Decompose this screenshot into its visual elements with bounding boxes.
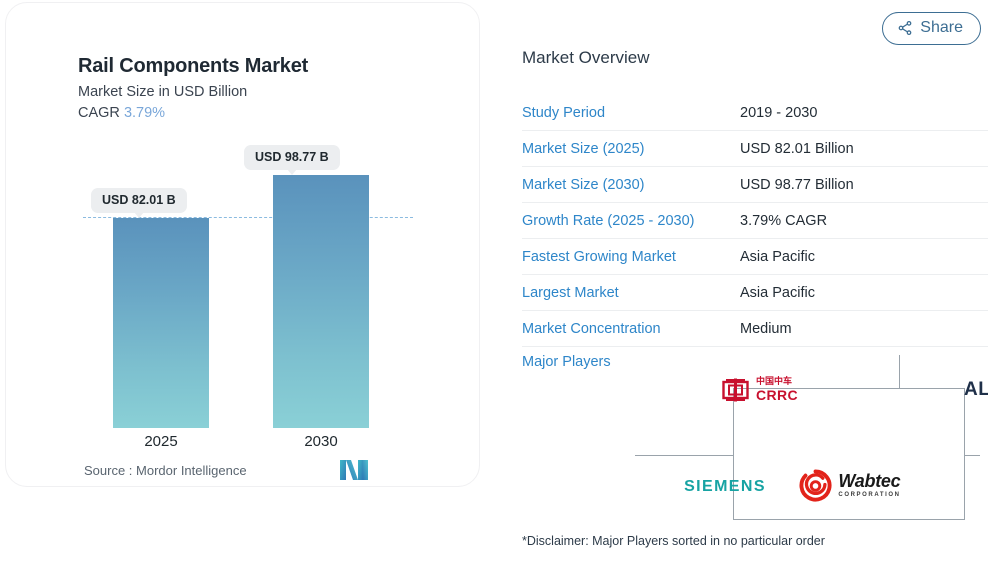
row-key: Market Size (2025) bbox=[522, 141, 740, 157]
wabtec-name: Wabtec bbox=[838, 472, 900, 490]
player-logo-wabtec: Wabtec CORPORATION bbox=[765, 455, 935, 515]
wabtec-swirl-icon bbox=[799, 469, 832, 502]
chart-subtitle: Market Size in USD Billion bbox=[78, 84, 247, 100]
alstom-text-part1: ALST bbox=[964, 379, 988, 401]
alstom-wordmark: ALST M bbox=[964, 379, 988, 401]
row-key: Market Size (2030) bbox=[522, 177, 740, 193]
player-logo-crrc: 中国中车 CRRC bbox=[645, 367, 875, 412]
table-row: Study Period 2019 - 2030 bbox=[522, 95, 988, 131]
row-value: 2019 - 2030 bbox=[740, 105, 817, 121]
chart-title: Rail Components Market bbox=[78, 55, 308, 78]
row-key: Fastest Growing Market bbox=[522, 249, 740, 265]
disclaimer-text: *Disclaimer: Major Players sorted in no … bbox=[522, 534, 825, 548]
cagr-label: CAGR bbox=[78, 105, 120, 121]
row-value: 3.79% CAGR bbox=[740, 213, 827, 229]
chart-card: Rail Components Market Market Size in US… bbox=[5, 2, 480, 487]
player-logo-alstom: ALST M bbox=[920, 367, 988, 412]
cagr-value: 3.79% bbox=[124, 105, 165, 121]
mordor-intelligence-logo bbox=[339, 459, 369, 481]
row-value: USD 98.77 Billion bbox=[740, 177, 854, 193]
market-overview-table: Study Period 2019 - 2030 Market Size (20… bbox=[522, 95, 988, 377]
table-row: Growth Rate (2025 - 2030) 3.79% CAGR bbox=[522, 203, 988, 239]
row-key: Study Period bbox=[522, 105, 740, 121]
crrc-emblem-icon bbox=[722, 378, 749, 402]
page-root: Rail Components Market Market Size in US… bbox=[0, 0, 988, 565]
share-nodes-icon bbox=[897, 20, 913, 36]
share-button-label: Share bbox=[920, 19, 963, 37]
row-value: USD 82.01 Billion bbox=[740, 141, 854, 157]
x-axis-tick-2025: 2025 bbox=[113, 433, 209, 450]
row-value: Medium bbox=[740, 321, 792, 337]
grid-line-horizontal-left bbox=[635, 455, 733, 456]
grid-line-horizontal-right bbox=[965, 455, 980, 456]
chart-plot-area: USD 82.01 B USD 98.77 B 2025 2030 bbox=[78, 143, 418, 428]
bar-2025[interactable] bbox=[113, 218, 209, 428]
panel-title: Market Overview bbox=[522, 48, 650, 68]
crrc-chinese-name: 中国中车 bbox=[756, 377, 798, 386]
major-players-logo-grid: 中国中车 CRRC ALST M SIEMENS bbox=[635, 355, 980, 520]
row-value: Asia Pacific bbox=[740, 249, 815, 265]
row-key: Growth Rate (2025 - 2030) bbox=[522, 213, 740, 229]
bar-2030[interactable] bbox=[273, 175, 369, 428]
table-row: Largest Market Asia Pacific bbox=[522, 275, 988, 311]
wabtec-subtitle: CORPORATION bbox=[838, 492, 900, 498]
market-overview-panel: Share Market Overview Study Period 2019 … bbox=[510, 0, 988, 565]
siemens-wordmark: SIEMENS bbox=[684, 478, 766, 496]
wabtec-logo-wrap: Wabtec CORPORATION bbox=[799, 469, 900, 502]
chart-cagr: CAGR 3.79% bbox=[78, 105, 165, 121]
table-row: Market Size (2030) USD 98.77 Billion bbox=[522, 167, 988, 203]
row-value: Asia Pacific bbox=[740, 285, 815, 301]
table-row: Fastest Growing Market Asia Pacific bbox=[522, 239, 988, 275]
player-logo-stadler: STADLER bbox=[955, 467, 988, 507]
wabtec-text-block: Wabtec CORPORATION bbox=[838, 472, 900, 498]
bar-label-2030: USD 98.77 B bbox=[244, 145, 340, 170]
x-axis-tick-2030: 2030 bbox=[273, 433, 369, 450]
crrc-english-name: CRRC bbox=[756, 388, 798, 402]
row-key: Largest Market bbox=[522, 285, 740, 301]
crrc-logo-wrap: 中国中车 CRRC bbox=[722, 377, 798, 402]
row-key: Market Concentration bbox=[522, 321, 740, 337]
table-row: Market Size (2025) USD 82.01 Billion bbox=[522, 131, 988, 167]
table-row: Market Concentration Medium bbox=[522, 311, 988, 347]
bar-label-2025: USD 82.01 B bbox=[91, 188, 187, 213]
share-button[interactable]: Share bbox=[882, 12, 981, 45]
chart-source: Source : Mordor Intelligence bbox=[84, 463, 247, 478]
crrc-text-block: 中国中车 CRRC bbox=[756, 377, 798, 402]
